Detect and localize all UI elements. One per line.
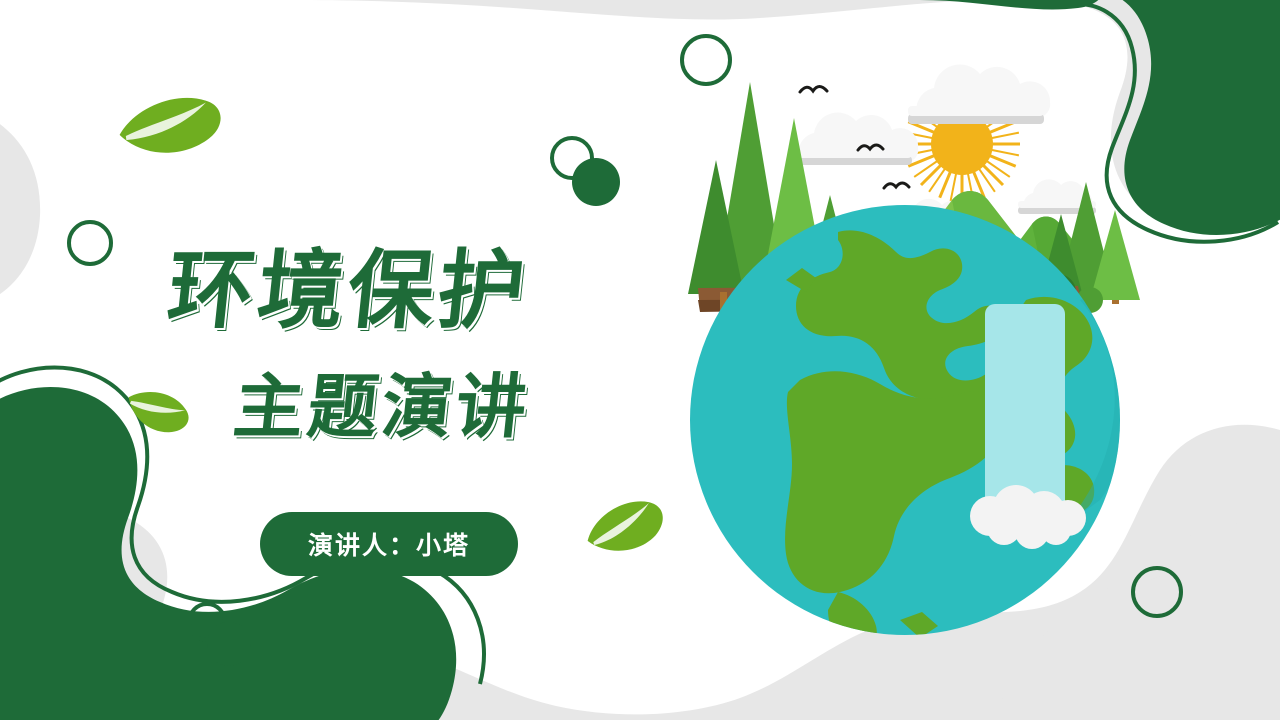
- ring-icon: [682, 36, 730, 84]
- slide-canvas: 环境保护 主题演讲 演讲人：小塔: [0, 0, 1280, 720]
- ring-icon: [1133, 568, 1181, 616]
- leaf-icon: [580, 494, 669, 562]
- leaf-icon: [121, 379, 195, 442]
- dot-pair-icon: [552, 138, 620, 206]
- speaker-label: 演讲人：小塔: [308, 526, 470, 562]
- ring-icon: [69, 222, 111, 264]
- decorative-elements: [0, 0, 1280, 720]
- leaf-icon: [116, 93, 225, 160]
- speaker-button[interactable]: 演讲人：小塔: [260, 512, 518, 576]
- dot-pair-icon: [189, 604, 251, 666]
